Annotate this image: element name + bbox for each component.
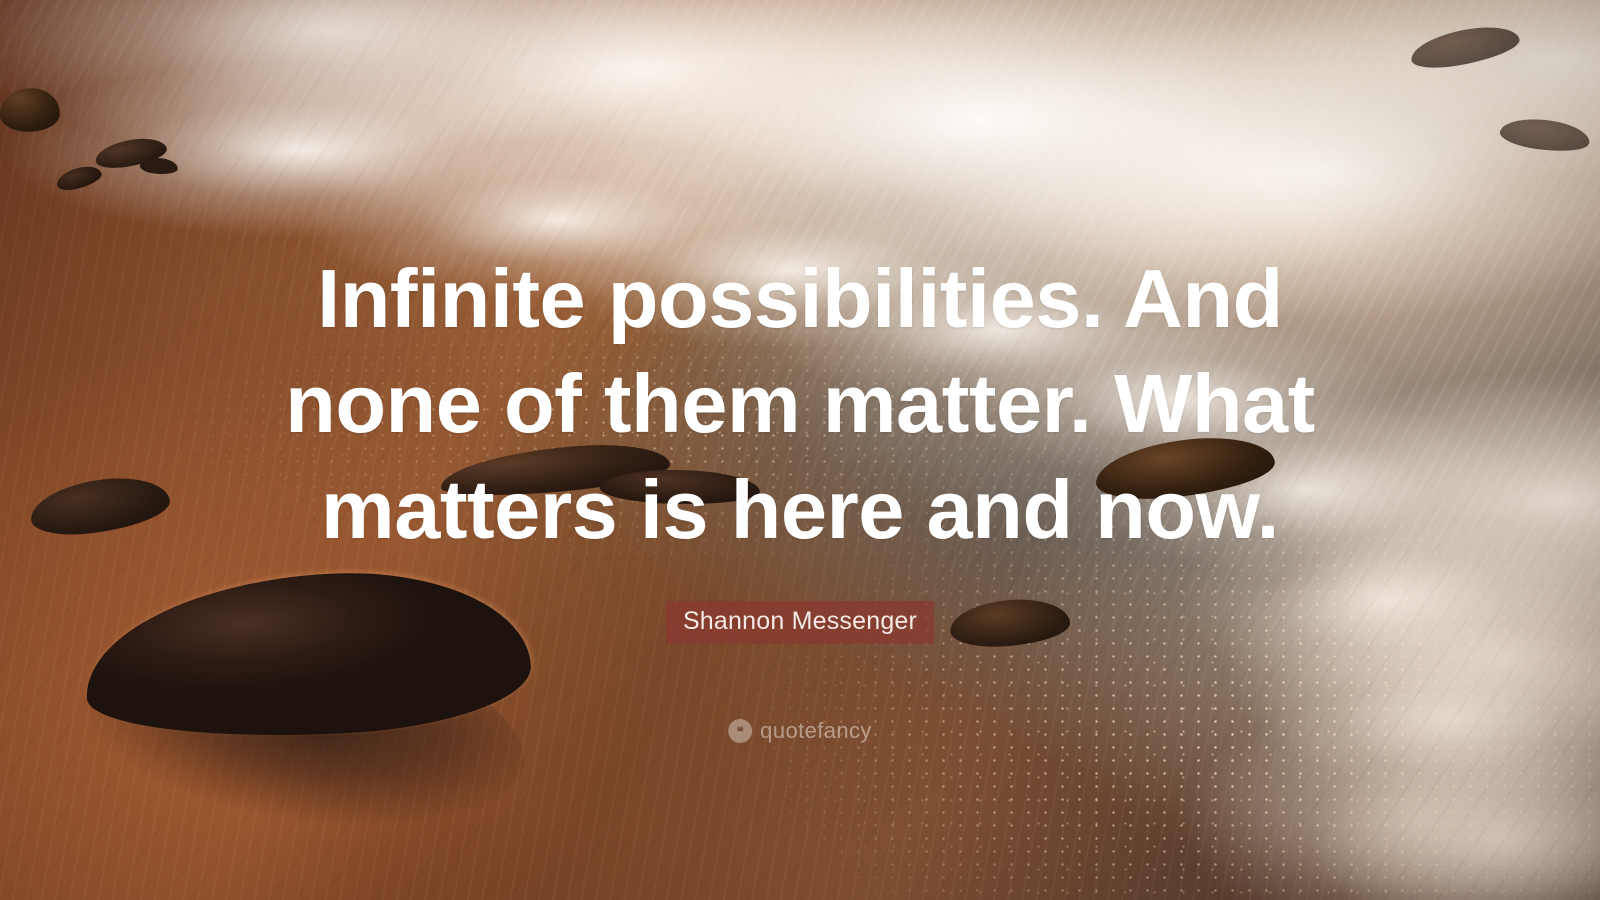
quotefancy-watermark[interactable]: ❝ quotefancy — [728, 718, 872, 744]
quote-line-2: none of them matter. What — [140, 351, 1460, 456]
author-attribution-badge: Shannon Messenger — [666, 601, 934, 644]
quote-overlay: Infinite possibilities. And none of them… — [0, 0, 1600, 900]
quote-line-1: Infinite possibilities. And — [140, 246, 1460, 351]
watermark-brand-label: quotefancy — [760, 718, 872, 744]
quote-text-block: Infinite possibilities. And none of them… — [0, 246, 1600, 562]
quote-line-3: matters is here and now. — [140, 457, 1460, 562]
quote-mark-icon: ❝ — [728, 719, 752, 743]
quote-image-card: Infinite possibilities. And none of them… — [0, 0, 1600, 900]
